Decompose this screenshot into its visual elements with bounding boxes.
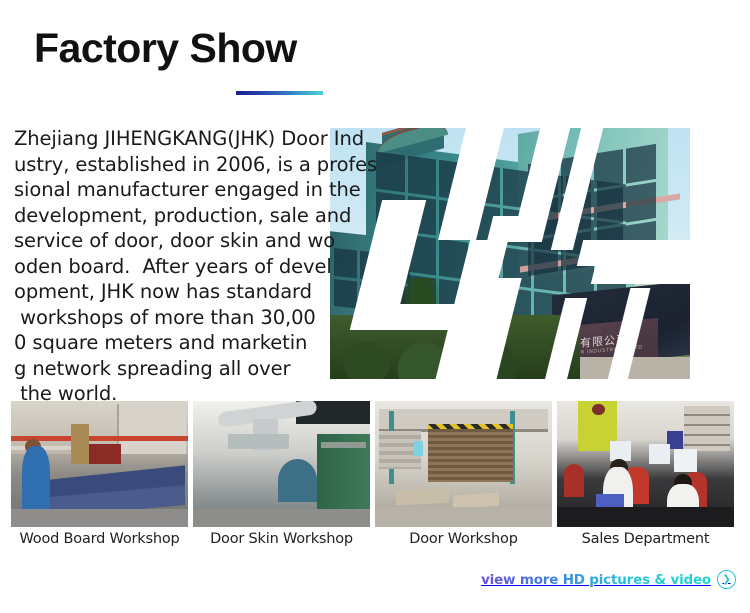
caption-door-workshop: Door Workshop xyxy=(375,531,552,547)
thumbnail-wood-board-workshop[interactable] xyxy=(11,401,188,527)
thumbnail-caption-row: Wood Board Workshop Door Skin Workshop D… xyxy=(11,531,739,547)
caption-wood-board-workshop: Wood Board Workshop xyxy=(11,531,188,547)
view-more-link[interactable]: view more HD pictures & video ❯ xyxy=(481,570,736,589)
view-more-label: view more HD pictures & video xyxy=(481,572,711,588)
title-underline-rule xyxy=(236,91,323,95)
thumbnail-gallery xyxy=(11,401,739,527)
caption-sales-department: Sales Department xyxy=(557,531,734,547)
company-intro-paragraph: Zhejiang JIHENGKANG(JHK) Door Ind ustry,… xyxy=(14,126,434,407)
thumbnail-door-skin-workshop[interactable] xyxy=(193,401,370,527)
caption-door-skin-workshop: Door Skin Workshop xyxy=(193,531,370,547)
page-title: Factory Show xyxy=(34,26,297,71)
window-grid-right xyxy=(528,144,656,276)
thumbnail-sales-department[interactable] xyxy=(557,401,734,527)
chevron-right-icon: ❯ xyxy=(717,570,736,589)
thumbnail-door-workshop[interactable] xyxy=(375,401,552,527)
ground-pavement xyxy=(580,357,690,379)
